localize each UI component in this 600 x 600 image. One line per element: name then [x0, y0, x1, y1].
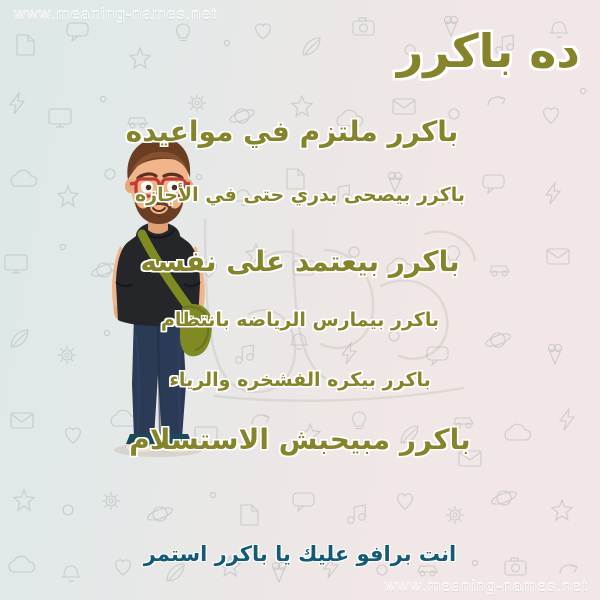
trait-line-3: باكرر بيعتمد على نفسه: [8, 248, 592, 276]
watermark-top-left: www.meaning-names.net: [14, 6, 217, 24]
trait-line-4: باكرر بيمارس الرياضه بانتظام: [8, 311, 592, 330]
trait-line-2: باكرر بيصحى بدري حتى في الأجازه: [8, 186, 592, 205]
footer-message: انت برافو عليك يا باكرر استمر: [0, 542, 600, 566]
name-meaning-card: www.meaning-names.net www.meaning-names.…: [0, 0, 600, 600]
trait-line-1: باكرر ملتزم في مواعيده: [0, 118, 592, 146]
trait-line-5: باكرر بيكره الفشخره والرياء: [8, 371, 592, 390]
page-title: ده باكرر: [397, 24, 580, 78]
trait-line-6: باكرر مبيحبش الاستسلام: [8, 426, 592, 454]
watermark-bottom-right: www.meaning-names.net: [385, 578, 588, 596]
